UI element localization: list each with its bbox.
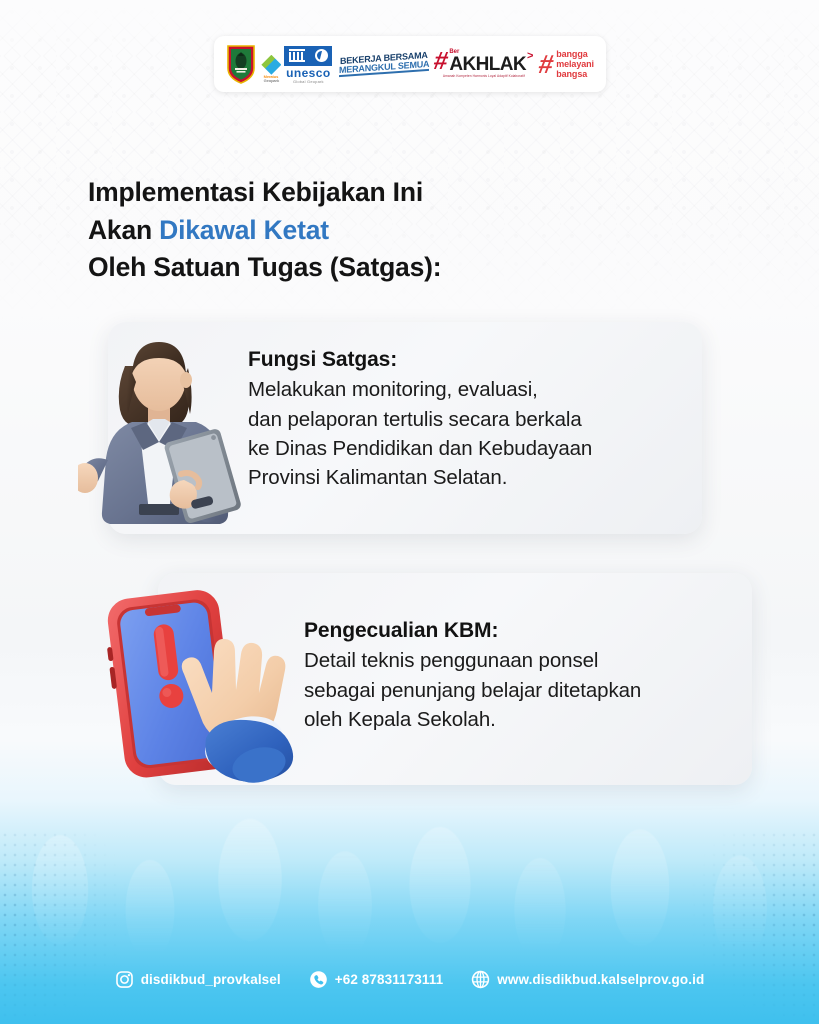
headline-line-1: Implementasi Kebijakan Ini [88,174,708,212]
card-satgas-body-line-2: dan pelaporan tertulis secara berkala [248,405,688,434]
card-kbm-title: Pengecualian KBM: [304,616,744,646]
meratus-geopark-mark: MeratusGeopark [261,55,281,84]
logo-unesco-global-geopark: MeratusGeopark unesco Global Geopark [261,45,333,84]
globe-icon [471,970,490,989]
card-kbm-body-line-1: Detail teknis penggunaan ponsel [304,646,744,675]
phone-icon [309,970,328,989]
logo-bangga-melayani-bangsa: # bangga melayani bangsa [539,49,594,79]
unesco-emblem-icon [283,45,333,67]
footer-contact-bar: disdikbud_provkalsel +62 87831173111 www… [0,962,819,996]
bangga-line-1: bangga [556,49,594,59]
unesco-temple-icon [289,49,305,62]
card-satgas-body-line-4: Provinsi Kalimantan Selatan. [248,463,688,492]
headline-line-2-prefix: Akan [88,215,159,245]
bangga-text: bangga melayani bangsa [556,49,594,79]
card-satgas-text: Fungsi Satgas: Melakukan monitoring, eva… [248,345,688,492]
unesco-globe-icon [315,49,328,62]
logo-kalsel-provincial-emblem [226,44,256,84]
hash-icon-bangga: # [537,53,555,75]
headline: Implementasi Kebijakan Ini Akan Dikawal … [88,174,708,287]
card-kbm-text: Pengecualian KBM: Detail teknis pengguna… [304,616,744,734]
logo-bekerja-bersama-merangkul-semua: BEKERJA BERSAMA MERANGKUL SEMUA [339,54,429,75]
card-satgas-body-line-1: Melakukan monitoring, evaluasi, [248,375,688,404]
business-woman-with-tablet-illustration [78,322,248,534]
bangga-line-3: bangsa [556,69,594,79]
akhlak-row: # Ber AKHLAK > [434,50,533,73]
geopark-label: MeratusGeopark [264,75,280,84]
akhlak-tagline: Amanah Kompeten Harmonis Loyal Adaptif K… [443,74,525,78]
geopark-label-sub: Geopark [264,79,280,83]
bangga-line-2: melayani [556,59,594,69]
footer-phone-label: +62 87831173111 [335,972,444,987]
kalsel-emblem-icon [226,44,256,84]
poster-canvas: MeratusGeopark unesco Global Geopark BEK… [0,0,819,1024]
footer-instagram-label: disdikbud_provkalsel [141,972,281,987]
hash-icon: # [432,50,450,73]
card-kbm-body-line-3: oleh Kepala Sekolah. [304,705,744,734]
footer-website[interactable]: www.disdikbud.kalselprov.go.id [471,970,704,989]
headline-line-3: Oleh Satuan Tugas (Satgas): [88,249,708,287]
smartphone-alert-hand-illustration [98,578,310,788]
instagram-icon [115,970,134,989]
headline-line-2: Akan Dikawal Ketat [88,212,708,250]
card-kbm-body-line-2: sebagai penunjang belajar ditetapkan [304,676,744,705]
unesco-mark: unesco Global Geopark [283,45,333,84]
card-satgas-title: Fungsi Satgas: [248,345,688,375]
headline-accent-text: Dikawal Ketat [159,215,329,245]
footer-phone[interactable]: +62 87831173111 [309,970,444,989]
logo-bar: MeratusGeopark unesco Global Geopark BEK… [214,36,606,92]
unesco-wordmark: unesco [286,67,330,79]
akhlak-word: AKHLAK [449,56,526,73]
card-satgas-body-line-3: ke Dinas Pendidikan dan Kebudayaan [248,434,688,463]
geopark-diamond-icon [261,55,281,75]
chevron-right-icon: > [527,50,533,62]
footer-instagram[interactable]: disdikbud_provkalsel [115,970,281,989]
akhlak-wordwrap: Ber AKHLAK [449,50,526,72]
unesco-subtitle: Global Geopark [293,79,324,84]
logo-ber-akhlak: # Ber AKHLAK > Amanah Kompeten Harmonis … [434,50,533,78]
footer-website-label: www.disdikbud.kalselprov.go.id [497,972,704,987]
